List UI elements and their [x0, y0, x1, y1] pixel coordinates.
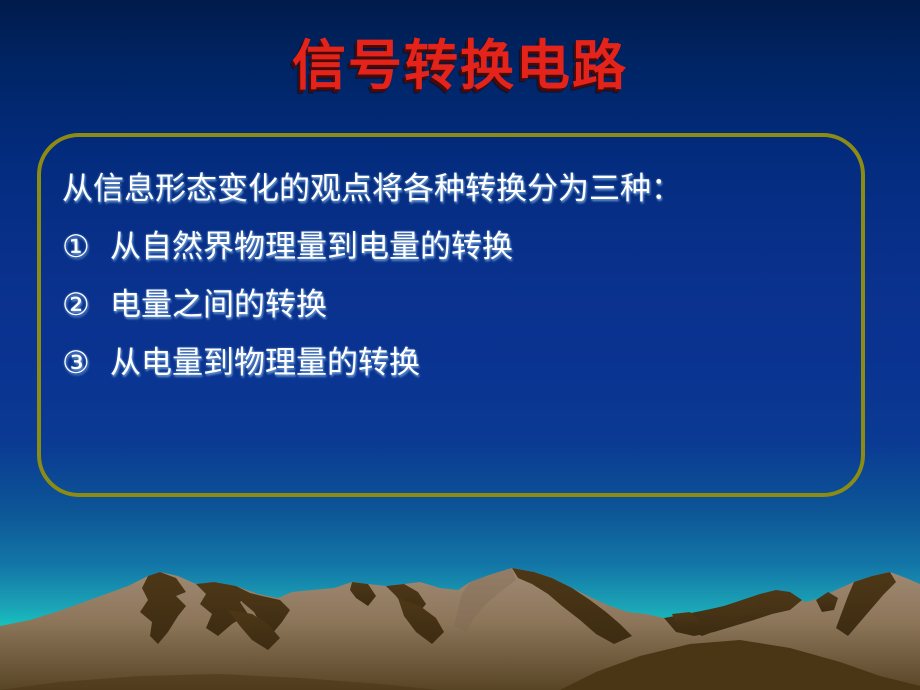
body-line-item-1: ①从自然界物理量到电量的转换	[62, 218, 852, 276]
mountain-landscape-graphic	[0, 540, 920, 690]
list-text-1: 从自然界物理量到电量的转换	[110, 229, 513, 265]
list-text-2: 电量之间的转换	[110, 287, 327, 323]
list-marker-3: ③	[62, 334, 110, 392]
list-text-3: 从电量到物理量的转换	[110, 345, 420, 381]
body-line-item-2: ②电量之间的转换	[62, 276, 852, 334]
list-marker-2: ②	[62, 276, 110, 334]
body-line-item-3: ③从电量到物理量的转换	[62, 334, 852, 392]
body-line-intro: 从信息形态变化的观点将各种转换分为三种：	[62, 160, 852, 218]
slide-body-text: 从信息形态变化的观点将各种转换分为三种： ①从自然界物理量到电量的转换 ②电量之…	[62, 160, 852, 392]
presentation-slide: 信号转换电路 从信息形态变化的观点将各种转换分为三种： ①从自然界物理量到电量的…	[0, 0, 920, 690]
slide-title: 信号转换电路	[0, 36, 920, 95]
list-marker-1: ①	[62, 218, 110, 276]
